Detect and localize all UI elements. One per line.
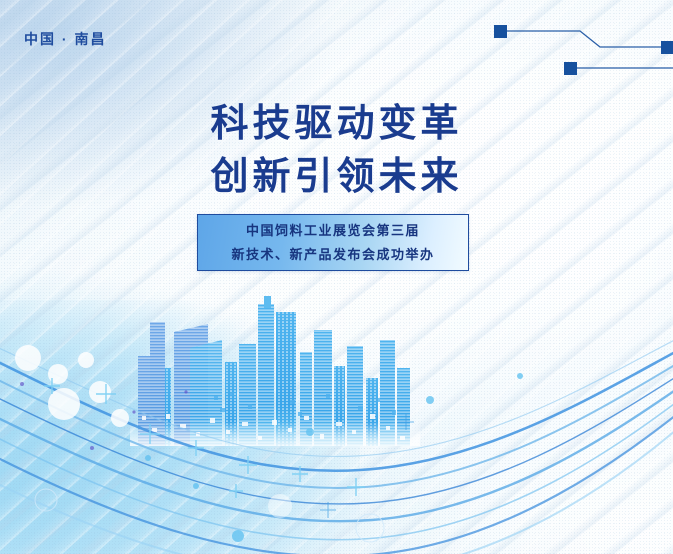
- subtitle-line-2: 新技术、新产品发布会成功举办: [231, 243, 434, 267]
- headline-line-1: 科技驱动变革: [0, 98, 673, 151]
- circuit-lines-icon: [473, 0, 673, 90]
- location-label: 中国 · 南昌: [24, 29, 106, 49]
- subtitle-banner: 中国饲料工业展览会第三届 新技术、新产品发布会成功举办: [197, 214, 469, 271]
- headline-line-2: 创新引领未来: [0, 151, 673, 204]
- subtitle-line-1: 中国饲料工业展览会第三届: [246, 219, 420, 243]
- poster-canvas: 中国 · 南昌 科技驱动变革 创新引领未来 中国饲料工业展览会第三届 新技术、新…: [0, 0, 673, 554]
- headline-block: 科技驱动变革 创新引领未来: [0, 98, 673, 204]
- sparkle-icon: [0, 340, 673, 554]
